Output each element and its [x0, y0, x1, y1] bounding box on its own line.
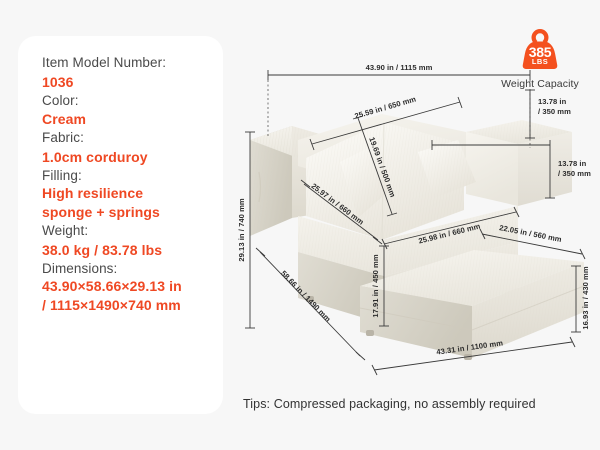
spec-value-filling-line2: sponge + springs: [42, 203, 223, 222]
dimlabel-overall-width: 43.90 in / 1115 mm: [366, 63, 433, 72]
spec-label-filling: Filling:: [42, 167, 223, 185]
spec-value-color: Cream: [42, 109, 223, 129]
spec-value-weight: 38.0 kg / 83.78 lbs: [42, 240, 223, 260]
spec-value-filling-line1: High resilience: [42, 184, 223, 203]
spec-value-dimensions-line1: 43.90×58.66×29.13 in: [42, 277, 223, 296]
spec-label-color: Color:: [42, 92, 223, 110]
dimlabel-pillow-size-line2: / 350 mm: [558, 169, 591, 178]
spec-label-model: Item Model Number:: [42, 54, 223, 72]
specification-card: Item Model Number: 1036 Color: Cream Fab…: [18, 36, 223, 414]
product-dimension-diagram: 43.90 in / 1115 mm 25.59 in / 650 mm 19.…: [232, 40, 592, 390]
spec-label-weight: Weight:: [42, 222, 223, 240]
dimlabel-ottoman-height: 16.93 in / 430 mm: [581, 266, 590, 330]
spec-value-dimensions-line2: / 1115×1490×740 mm: [42, 296, 223, 315]
dimlabel-overall-height: 29.13 in / 740 mm: [237, 198, 246, 262]
spec-label-dimensions: Dimensions:: [42, 260, 223, 278]
dimlabel-arm-upper-line1: 13.78 in: [538, 97, 567, 106]
dimlabel-arm-upper-line2: / 350 mm: [538, 107, 571, 116]
spec-value-model: 1036: [42, 72, 223, 92]
spec-value-fabric: 1.0cm corduroy: [42, 147, 223, 167]
spec-label-fabric: Fabric:: [42, 129, 223, 147]
tips-text: Tips: Compressed packaging, no assembly …: [243, 397, 536, 411]
dimlabel-seat-height: 17.91 in / 450 mm: [371, 254, 380, 318]
dimlabel-pillow-size-line1: 13.78 in: [558, 159, 587, 168]
product-spec-sheet: Item Model Number: 1036 Color: Cream Fab…: [0, 0, 600, 450]
